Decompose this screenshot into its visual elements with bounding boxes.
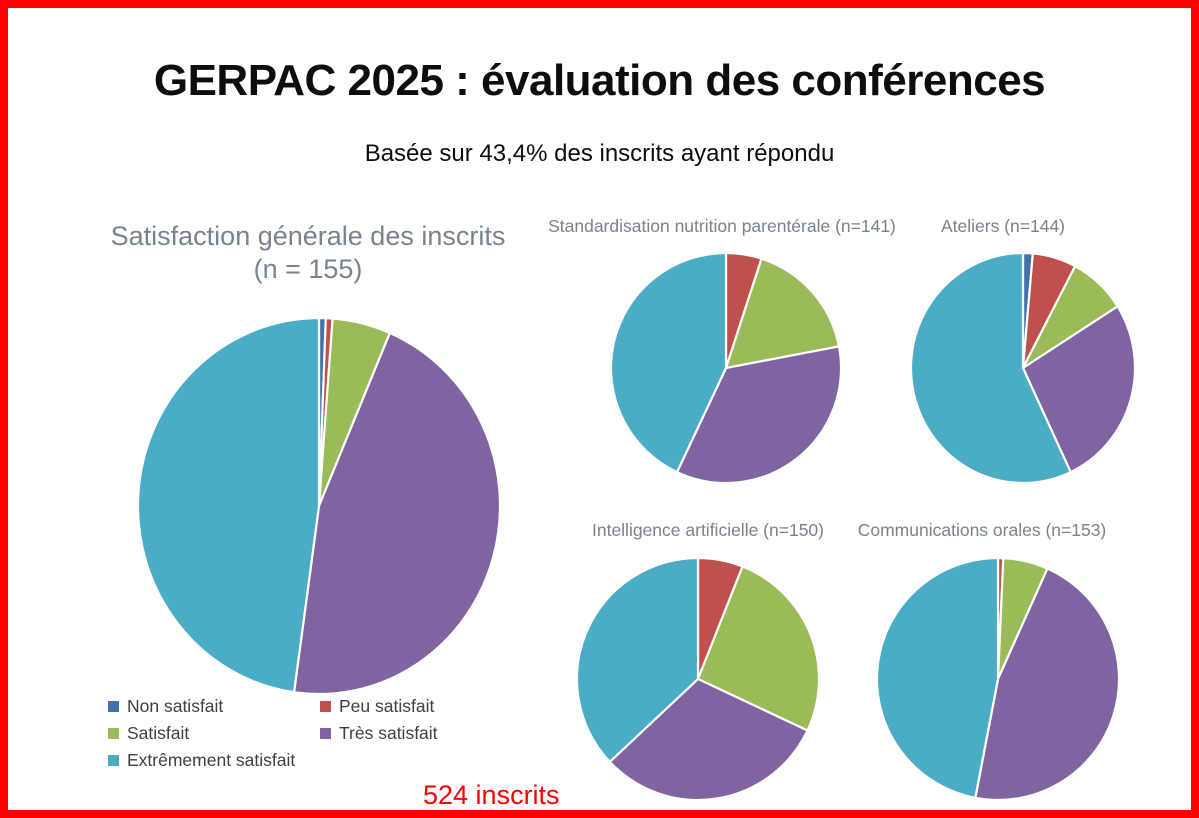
chart-title-ateliers: Ateliers (n=144)	[918, 216, 1088, 237]
slide-content: GERPAC 2025 : évaluation des conférences…	[8, 8, 1191, 810]
pie-svg-satisfaction-generale	[136, 316, 502, 696]
legend-label-peu-satisfait: Peu satisfait	[339, 696, 434, 717]
chart-title-line2: (n = 155)	[88, 253, 528, 286]
legend-item-tres-satisfait[interactable]: Très satisfait	[320, 723, 438, 744]
legend-row-1: Non satisfait Peu satisfait	[108, 696, 508, 717]
pie-svg-communications-orales	[876, 557, 1120, 807]
legend-item-satisfait[interactable]: Satisfait	[108, 723, 320, 744]
page-subtitle: Basée sur 43,4% des inscrits ayant répon…	[8, 140, 1191, 168]
legend-label-non-satisfait: Non satisfait	[127, 696, 223, 717]
chart-title-satisfaction-generale: Satisfaction générale des inscrits (n = …	[88, 220, 528, 286]
legend-item-non-satisfait[interactable]: Non satisfait	[108, 696, 320, 717]
legend-item-peu-satisfait[interactable]: Peu satisfait	[320, 696, 434, 717]
legend-label-extremement-satisfait: Extrêmement satisfait	[127, 750, 295, 771]
slide-canvas: GERPAC 2025 : évaluation des conférences…	[0, 0, 1199, 818]
legend: Non satisfait Peu satisfait Satisfait Tr…	[108, 696, 508, 777]
legend-swatch-satisfait	[108, 728, 119, 739]
pie-chart-satisfaction-generale[interactable]	[136, 316, 502, 696]
chart-title-standardisation: Standardisation nutrition parentérale (n…	[526, 216, 918, 237]
footnote-inscrits: 524 inscrits	[423, 780, 560, 811]
pie-svg-intelligence-artificielle	[576, 557, 820, 807]
pie-chart-communications-orales[interactable]	[876, 557, 1120, 807]
pie-slice-communications-orales-4[interactable]	[877, 558, 998, 798]
legend-swatch-extremement-satisfait	[108, 755, 119, 766]
legend-label-satisfait: Satisfait	[127, 723, 189, 744]
page-title: GERPAC 2025 : évaluation des conférences	[8, 56, 1191, 106]
pie-chart-standardisation[interactable]	[610, 252, 842, 484]
pie-slice-satisfaction-generale-4[interactable]	[138, 318, 319, 692]
legend-label-tres-satisfait: Très satisfait	[339, 723, 438, 744]
legend-swatch-tres-satisfait	[320, 728, 331, 739]
legend-row-2: Satisfait Très satisfait	[108, 723, 508, 744]
chart-title-line1: Satisfaction générale des inscrits	[88, 220, 528, 253]
chart-title-communications-orales: Communications orales (n=153)	[846, 520, 1118, 541]
legend-item-extremement-satisfait[interactable]: Extrêmement satisfait	[108, 750, 320, 771]
pie-chart-ateliers[interactable]	[910, 252, 1136, 484]
legend-swatch-peu-satisfait	[320, 701, 331, 712]
chart-title-intelligence-artificielle: Intelligence artificielle (n=150)	[568, 520, 848, 541]
pie-chart-intelligence-artificielle[interactable]	[576, 557, 820, 807]
legend-row-3: Extrêmement satisfait	[108, 750, 508, 771]
pie-svg-ateliers	[910, 252, 1136, 484]
pie-svg-standardisation	[610, 252, 842, 484]
legend-swatch-non-satisfait	[108, 701, 119, 712]
